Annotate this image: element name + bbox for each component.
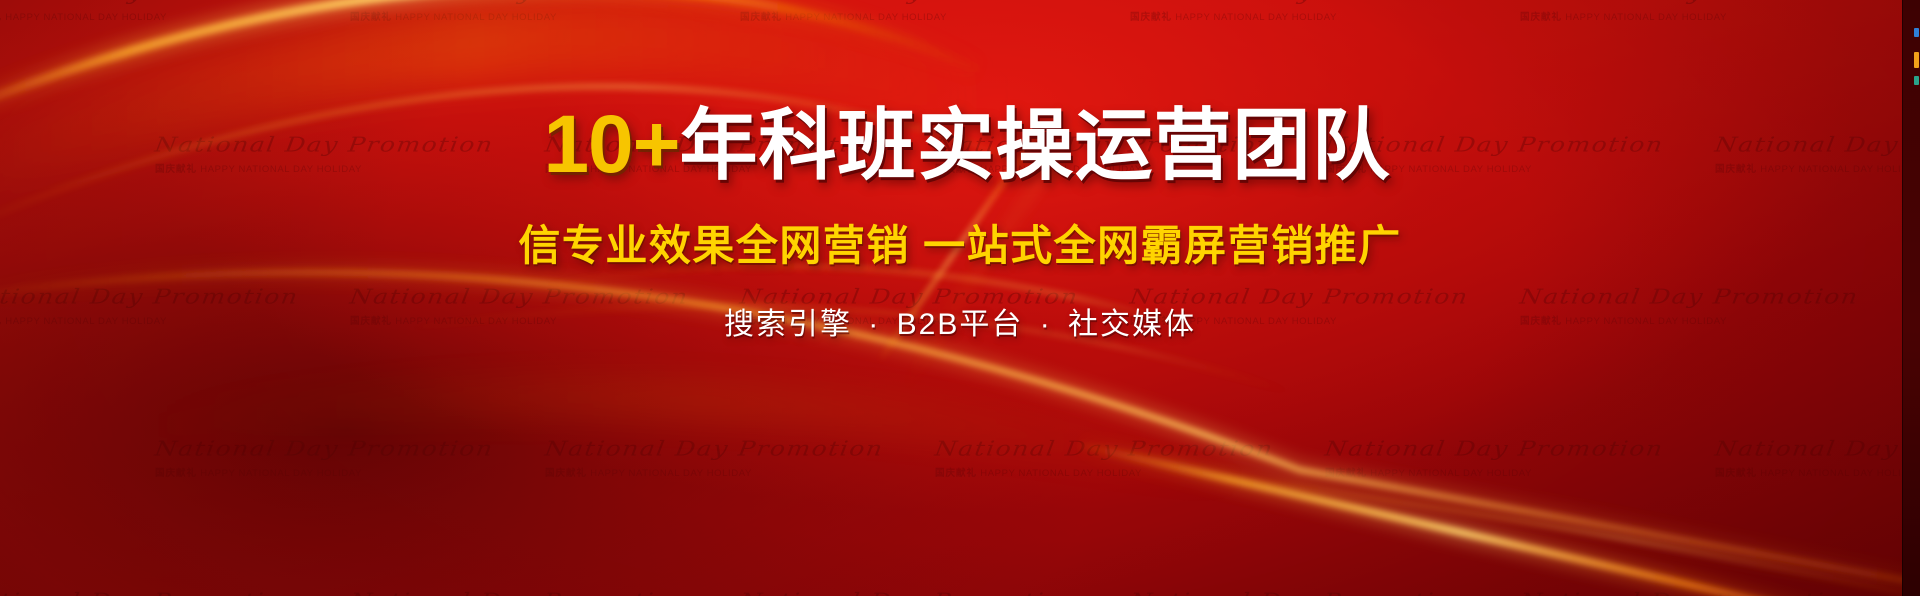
headline-number: 10+	[543, 99, 679, 190]
national-day-promotion-banner: National Day Promotion国庆献礼 HAPPY NATIONA…	[0, 0, 1920, 596]
strip-dot-orange-icon	[1914, 52, 1919, 68]
tagline-item-search-engine: 搜索引擎	[724, 308, 852, 341]
right-edge-strip	[1902, 0, 1920, 596]
tagline-item-b2b-platform: B2B平台	[897, 308, 1024, 341]
strip-dot-teal-icon	[1914, 76, 1919, 85]
headline-text: 年科班实操运营团队	[680, 101, 1391, 189]
banner-content: 10+年科班实操运营团队 信专业效果全网营销 一站式全网霸屏营销推广 搜索引擎 …	[0, 0, 1920, 596]
tagline-item-social-media: 社交媒体	[1068, 308, 1196, 341]
subheadline: 信专业效果全网营销 一站式全网霸屏营销推广	[518, 212, 1401, 273]
headline: 10+年科班实操运营团队	[543, 104, 1390, 186]
tagline-separator-1: ·	[868, 308, 880, 341]
tagline-separator-2: ·	[1040, 308, 1052, 341]
strip-dot-blue-icon	[1914, 28, 1919, 37]
tagline: 搜索引擎 · B2B平台 · 社交媒体	[724, 299, 1196, 343]
